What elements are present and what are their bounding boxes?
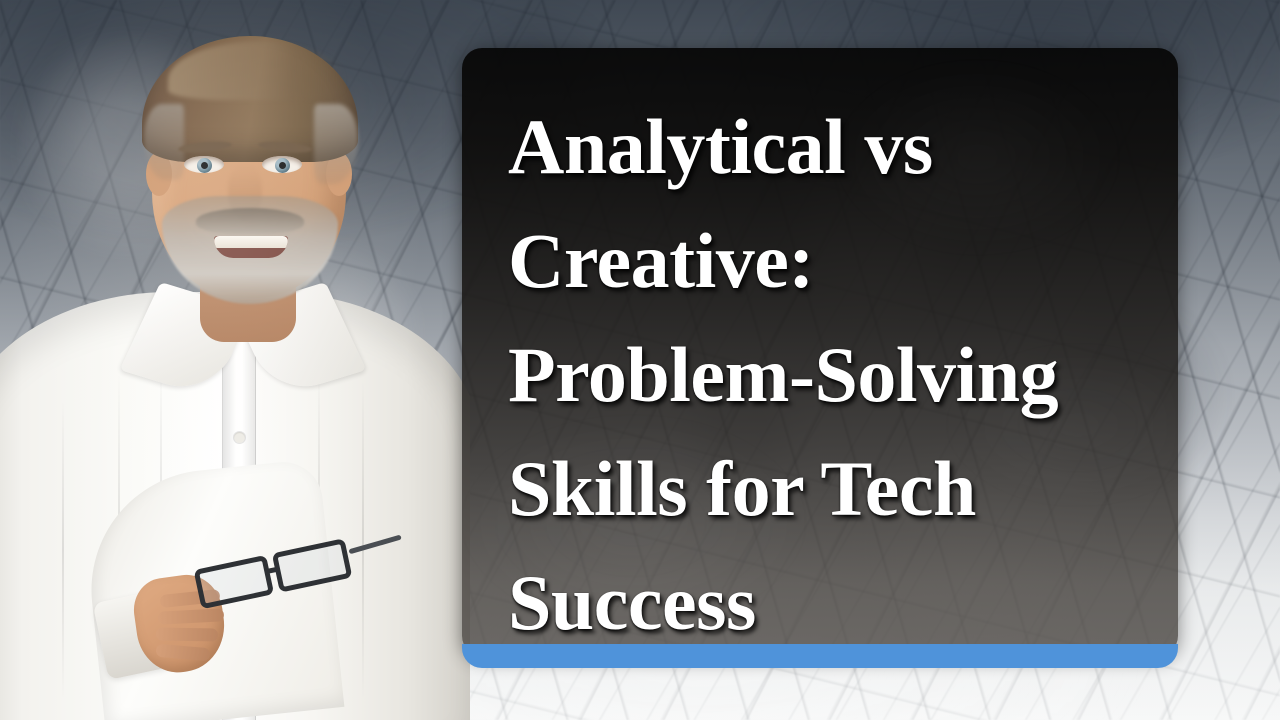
title-card: Analytical vs Creative: Problem-Solving … [462, 48, 1178, 656]
pupil-left [201, 162, 208, 169]
hair-grey-temple-left [144, 104, 184, 180]
teeth [214, 236, 288, 248]
mouth [214, 236, 288, 258]
moustache [196, 208, 304, 234]
eyeglass-lens-right [272, 538, 353, 593]
page-title: Analytical vs Creative: Problem-Solving … [508, 90, 1144, 656]
eyeglass-lens-left [194, 555, 275, 610]
video-thumbnail: Analytical vs Creative: Problem-Solving … [0, 0, 1280, 720]
shirt-button [234, 432, 245, 443]
subject-portrait [0, 0, 470, 720]
shirt-fold [62, 400, 64, 700]
finger [156, 627, 218, 641]
pupil-right [279, 162, 286, 169]
